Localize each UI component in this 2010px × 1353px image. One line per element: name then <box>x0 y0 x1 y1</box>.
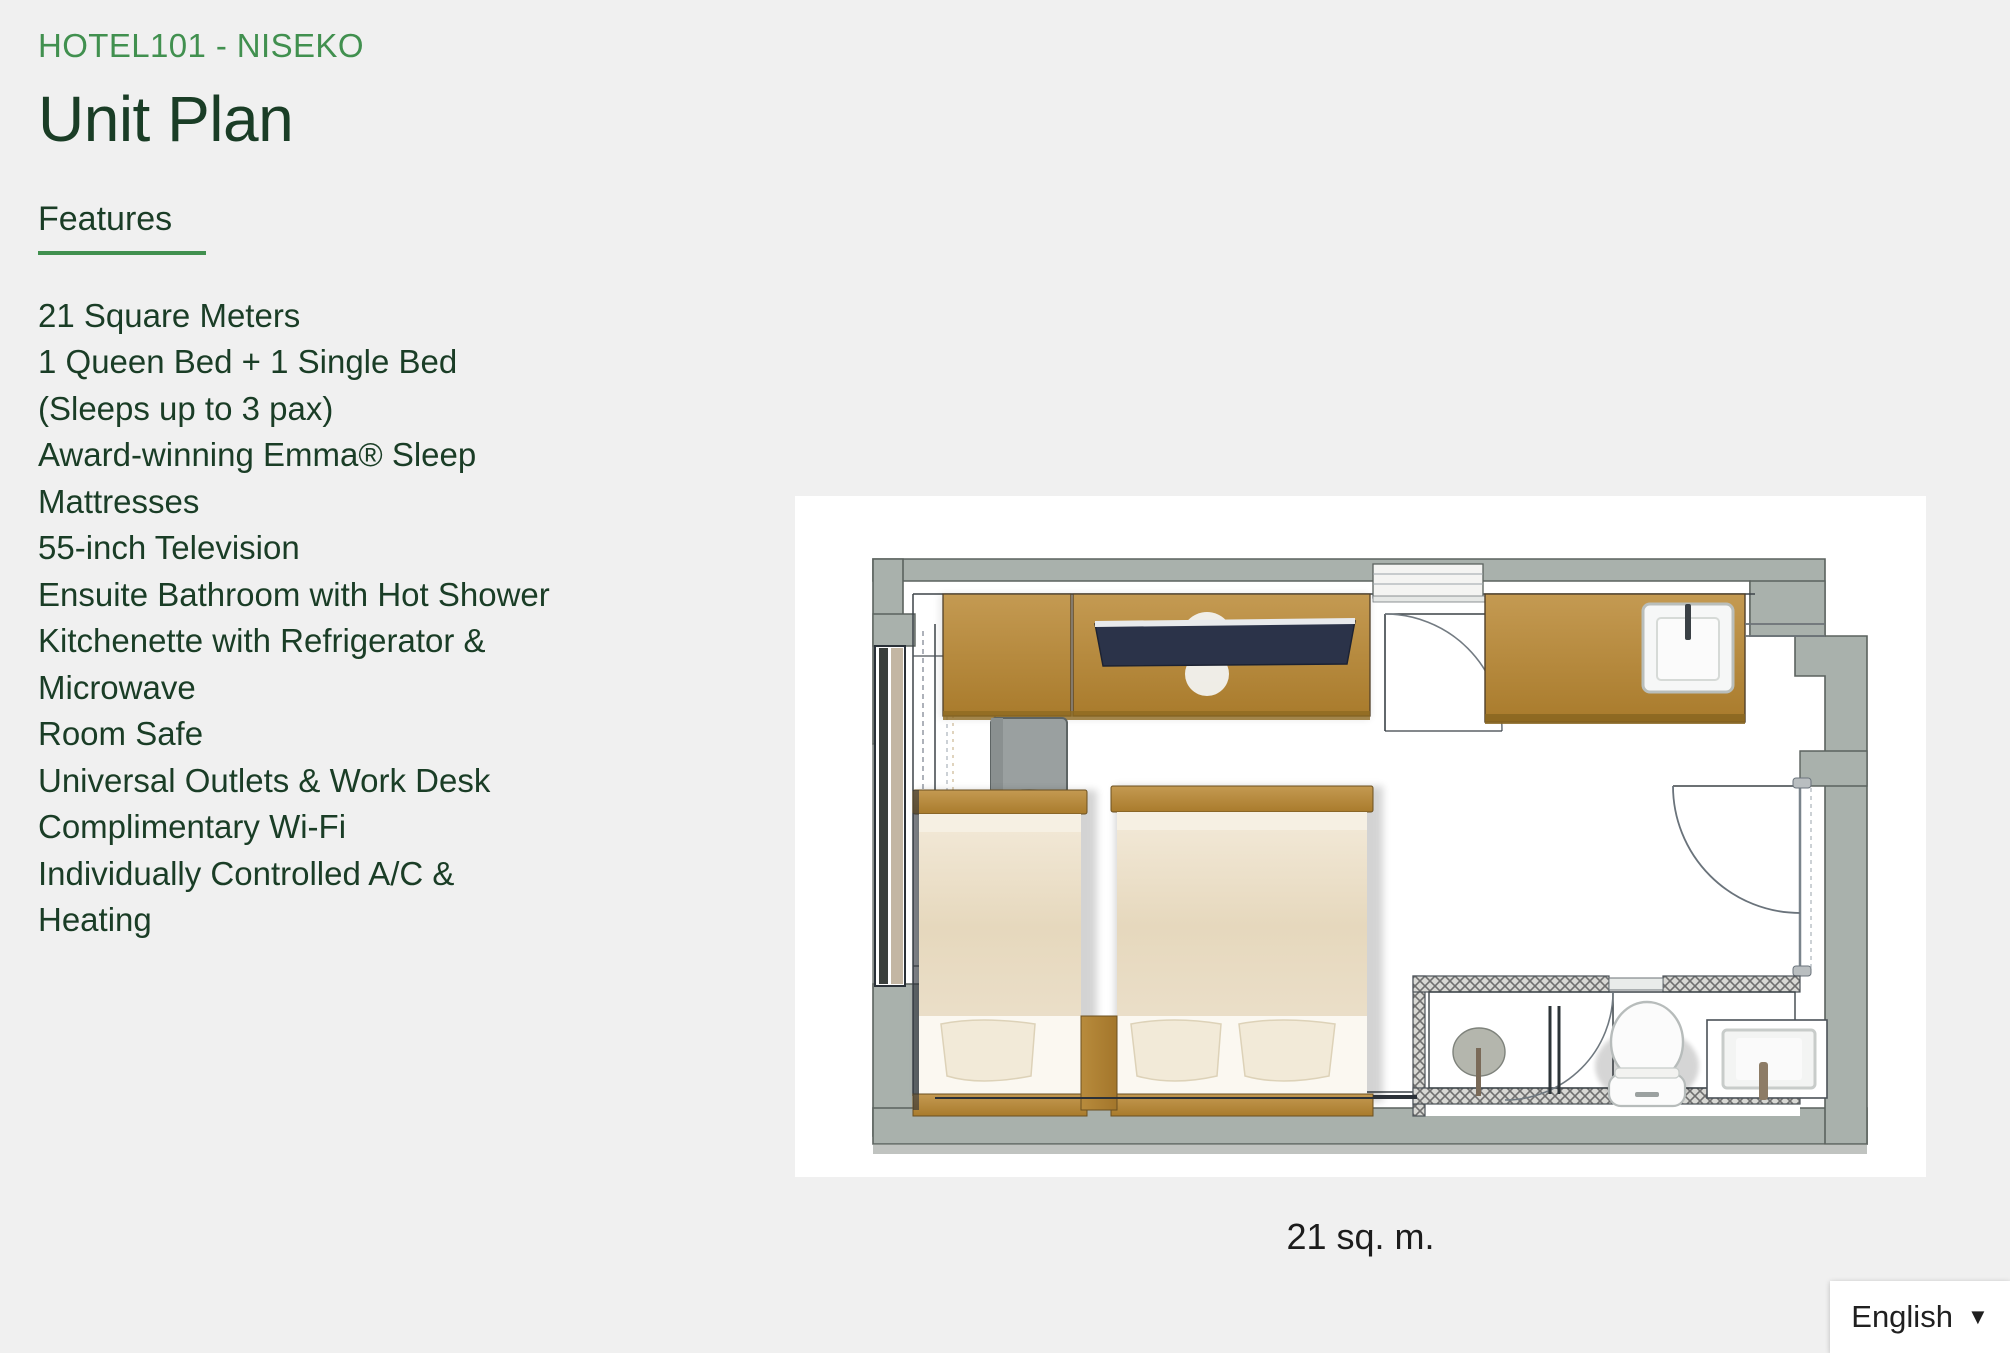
vanity-basin <box>1707 1020 1827 1100</box>
feature-item: 1 Queen Bed + 1 Single Bed (Sleeps up to… <box>38 339 738 432</box>
nightstand <box>1081 1016 1117 1110</box>
hotel-name: HOTEL101 - NISEKO <box>38 28 738 64</box>
feature-item: Award-winning Emma® Sleep Mattresses <box>38 432 738 525</box>
chevron-down-icon: ▼ <box>1967 1306 1989 1328</box>
single-bed <box>913 790 1097 1116</box>
bathroom <box>1413 976 1827 1116</box>
language-selector[interactable]: English ▼ <box>1830 1281 2010 1353</box>
feature-item: Individually Controlled A/C & Heating <box>38 851 738 944</box>
feature-item: 55-inch Television <box>38 525 738 572</box>
feature-item: Ensuite Bathroom with Hot Shower <box>38 572 738 619</box>
floor-plan-image <box>795 496 1926 1177</box>
features-underline <box>38 251 206 255</box>
kitchen-sink <box>1643 604 1733 692</box>
feature-item: 21 Square Meters <box>38 293 738 340</box>
features-list: 21 Square Meters1 Queen Bed + 1 Single B… <box>38 293 738 944</box>
floor-plan-panel <box>795 496 1926 1177</box>
feature-item: Room Safe <box>38 711 738 758</box>
feature-item: Universal Outlets & Work Desk <box>38 758 738 805</box>
page-title: Unit Plan <box>38 86 738 153</box>
language-selector-label: English <box>1851 1299 1953 1335</box>
features-heading: Features <box>38 201 172 238</box>
feature-item: Kitchenette with Refrigerator & Microwav… <box>38 618 738 711</box>
unit-plan-info-column: HOTEL101 - NISEKO Unit Plan Features 21 … <box>38 0 738 960</box>
floor-plan-caption: 21 sq. m. <box>795 1216 1926 1258</box>
feature-item: Complimentary Wi-Fi <box>38 804 738 851</box>
queen-bed <box>1111 786 1383 1116</box>
features-heading-group: Features <box>38 201 738 254</box>
